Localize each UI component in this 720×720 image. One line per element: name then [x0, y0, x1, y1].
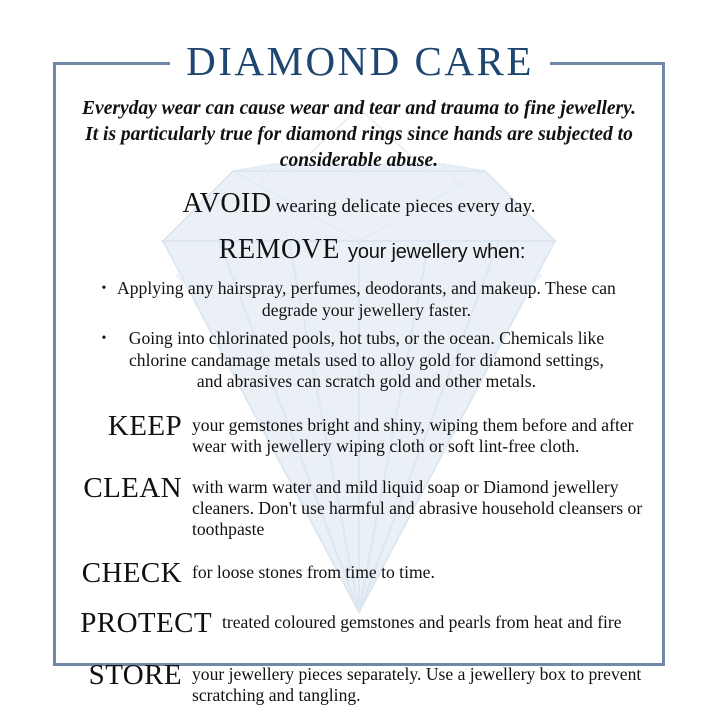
care-text-store: your jewellery pieces separately. Use a … — [192, 660, 654, 706]
remove-text: your jewellery when: — [348, 241, 525, 263]
remove-keyword: REMOVE — [219, 234, 340, 265]
care-section-protect: PROTECT treated coloured gemstones and p… — [64, 608, 654, 638]
bullet-icon: • — [102, 278, 117, 299]
list-item-text: Going into chlorinated pools, hot tubs, … — [116, 328, 616, 393]
remove-bullet-list: • Applying any hairspray, perfumes, deod… — [64, 278, 654, 393]
care-keyword-clean: CLEAN — [64, 473, 192, 503]
bullet-icon: • — [102, 328, 117, 349]
care-section-check: CHECK for loose stones from time to time… — [64, 558, 654, 588]
care-keyword-protect: PROTECT — [64, 608, 222, 638]
care-text-clean: with warm water and mild liquid soap or … — [192, 473, 654, 540]
care-text-protect: treated coloured gemstones and pearls fr… — [222, 608, 654, 633]
care-keyword-keep: KEEP — [64, 411, 192, 441]
diamond-care-poster: DIAMOND CARE Everyday wear can cause wea… — [0, 0, 720, 720]
avoid-text: wearing delicate pieces every day. — [276, 196, 536, 217]
content-area: Everyday wear can cause wear and tear an… — [56, 62, 662, 666]
list-item-text: Applying any hairspray, perfumes, deodor… — [116, 278, 616, 321]
list-item: • Going into chlorinated pools, hot tubs… — [64, 328, 654, 393]
care-section-keep: KEEP your gemstones bright and shiny, wi… — [64, 411, 654, 457]
avoid-line: AVOID wearing delicate pieces every day. — [64, 188, 654, 220]
remove-line: REMOVE your jewellery when: — [64, 234, 654, 266]
care-text-check: for loose stones from time to time. — [192, 558, 654, 583]
care-section-store: STORE your jewellery pieces separately. … — [64, 660, 654, 706]
care-section-clean: CLEAN with warm water and mild liquid so… — [64, 473, 654, 540]
care-keyword-store: STORE — [64, 660, 192, 690]
care-keyword-check: CHECK — [64, 558, 192, 588]
care-text-keep: your gemstones bright and shiny, wiping … — [192, 411, 654, 457]
intro-paragraph: Everyday wear can cause wear and tear an… — [78, 96, 640, 174]
list-item: • Applying any hairspray, perfumes, deod… — [64, 278, 654, 321]
avoid-keyword: AVOID — [183, 188, 272, 219]
